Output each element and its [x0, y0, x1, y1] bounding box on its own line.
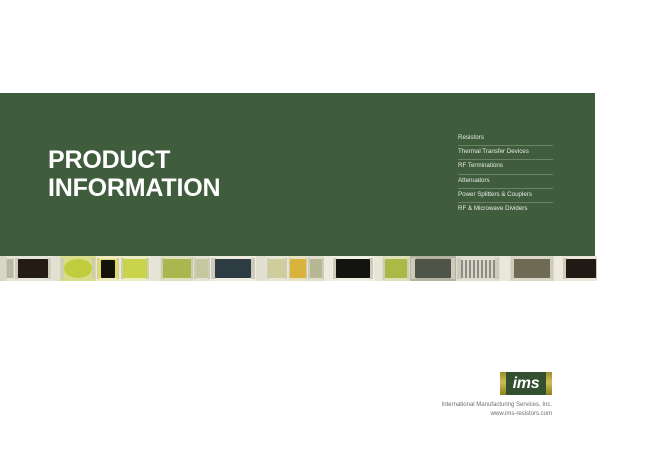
component-thumbnail [456, 256, 500, 281]
hero-panel: PRODUCT INFORMATION ResistorsThermal Tra… [0, 93, 595, 256]
chip-body [514, 259, 549, 278]
component-thumbnail [266, 256, 288, 281]
product-category-list: ResistorsThermal Transfer DevicesRF Term… [458, 135, 553, 219]
product-category-item[interactable]: RF & Microwave Dividers [458, 206, 553, 216]
strip-spacer [150, 256, 160, 281]
chip-ridges [461, 260, 494, 278]
chip-body [415, 259, 452, 278]
product-category-item[interactable]: Thermal Transfer Devices [458, 149, 553, 160]
component-thumbnail [96, 256, 120, 281]
page-title: PRODUCT INFORMATION [48, 146, 220, 202]
component-thumbnail [14, 256, 52, 281]
component-thumbnail [510, 256, 554, 281]
strip-spacer [554, 256, 562, 281]
chip-body [123, 259, 147, 278]
component-thumbnail [374, 256, 382, 281]
chip-terminal-right [407, 258, 410, 279]
strip-spacer [324, 256, 332, 281]
chip-terminal-right [92, 258, 95, 279]
chip-body [566, 259, 596, 278]
chip-terminal-right [451, 258, 455, 279]
product-category-item[interactable]: Power Splitters & Couplers [458, 192, 553, 203]
company-name: International Manufacturing Services, In… [0, 401, 552, 410]
chip-terminal-right [251, 258, 255, 279]
component-thumbnail [410, 256, 456, 281]
brand-block: ims International Manufacturing Services… [0, 372, 552, 418]
chip-body [196, 259, 209, 278]
product-category-item[interactable]: Resistors [458, 135, 553, 146]
component-thumbnail [6, 256, 14, 281]
ims-logo: ims [500, 372, 552, 395]
component-thumbnail [52, 256, 60, 281]
company-website: www.ims-resistors.com [0, 410, 552, 419]
product-category-item[interactable]: Attenuators [458, 178, 553, 189]
component-thumbnail [256, 256, 266, 281]
product-category-item[interactable]: RF Terminations [458, 163, 553, 174]
component-thumbnail [382, 256, 410, 281]
component-thumbnail [60, 256, 96, 281]
chip-body [18, 259, 48, 278]
footer-text: International Manufacturing Services, In… [0, 401, 552, 418]
strip-spacer [500, 256, 510, 281]
chip-notch [101, 260, 115, 278]
component-thumbnail [554, 256, 562, 281]
component-thumbnail [210, 256, 256, 281]
chip-body [64, 259, 93, 278]
component-thumbnail [500, 256, 510, 281]
logo-wordmark: ims [500, 372, 552, 395]
chip-body [268, 259, 286, 278]
component-thumbnail [160, 256, 194, 281]
chip-body [290, 259, 306, 278]
component-thumbnail [194, 256, 210, 281]
component-thumbnail [308, 256, 324, 281]
chip-body [336, 259, 370, 278]
component-thumbnail [562, 256, 597, 281]
chip-body [310, 259, 323, 278]
chip-terminal-right [495, 258, 499, 279]
chip-body [385, 259, 407, 278]
chip-body [7, 259, 13, 278]
component-thumbnail [288, 256, 308, 281]
component-thumbnail [324, 256, 332, 281]
component-thumbnail [332, 256, 374, 281]
chip-body [163, 259, 190, 278]
strip-spacer [256, 256, 266, 281]
strip-spacer [52, 256, 60, 281]
component-thumbnail [150, 256, 160, 281]
chip-body [215, 259, 252, 278]
component-thumbnail [120, 256, 150, 281]
component-photo-strip [0, 256, 597, 281]
strip-spacer [374, 256, 382, 281]
